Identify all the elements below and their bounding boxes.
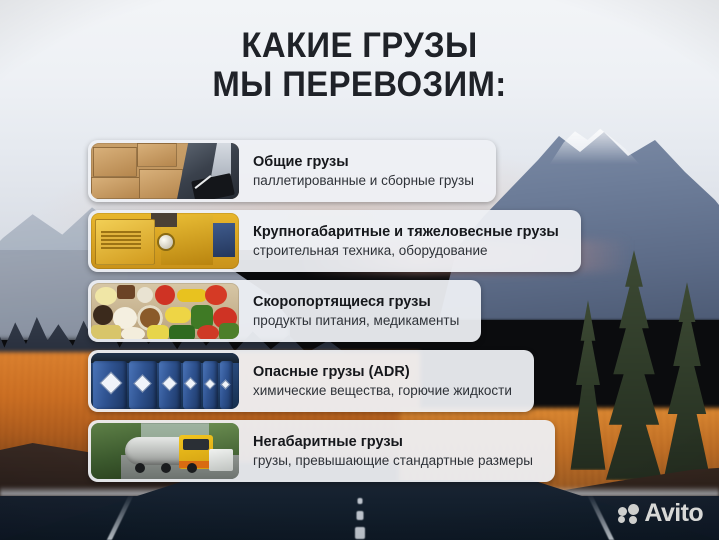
road-center-dash — [356, 511, 363, 520]
avito-watermark: Avito — [618, 501, 703, 526]
list-item-subtitle: продукты питания, медикаменты — [253, 312, 459, 330]
list-item-title: Крупногабаритные и тяжеловесные грузы — [253, 223, 559, 241]
list-item[interactable]: Общие грузы паллетированные и сборные гр… — [88, 140, 496, 202]
heavy-machinery-icon — [91, 213, 239, 269]
cargo-type-list: Общие грузы паллетированные и сборные гр… — [88, 140, 581, 482]
oversize-truck-icon — [91, 423, 239, 479]
list-item-subtitle: химические вещества, горючие жидкости — [253, 382, 512, 400]
avito-dots-icon — [618, 504, 640, 524]
list-item-subtitle: грузы, превышающие стандартные размеры — [253, 452, 533, 470]
list-item-title: Общие грузы — [253, 153, 474, 171]
page-title: КАКИЕ ГРУЗЫ МЫ ПЕРЕВОЗИМ: — [0, 26, 719, 104]
page-title-line-2: МЫ ПЕРЕВОЗИМ: — [22, 65, 698, 104]
list-item[interactable]: Скоропортящиеся грузы продукты питания, … — [88, 280, 481, 342]
fresh-food-icon — [91, 283, 239, 339]
cardboard-boxes-icon — [91, 143, 239, 199]
list-item-text: Крупногабаритные и тяжеловесные грузы ст… — [253, 223, 559, 260]
list-item-text: Негабаритные грузы грузы, превышающие ст… — [253, 433, 533, 470]
list-item-subtitle: паллетированные и сборные грузы — [253, 172, 474, 190]
list-item-title: Опасные грузы (ADR) — [253, 363, 512, 381]
list-item-subtitle: строительная техника, оборудование — [253, 242, 559, 260]
list-item-text: Скоропортящиеся грузы продукты питания, … — [253, 293, 459, 330]
road-center-dash — [355, 527, 365, 539]
list-item-text: Опасные грузы (ADR) химические вещества,… — [253, 363, 512, 400]
list-item-text: Общие грузы паллетированные и сборные гр… — [253, 153, 474, 190]
page-title-line-1: КАКИЕ ГРУЗЫ — [22, 26, 698, 65]
avito-brand-label: Avito — [644, 501, 703, 526]
list-item-title: Скоропортящиеся грузы — [253, 293, 459, 311]
list-item[interactable]: Негабаритные грузы грузы, превышающие ст… — [88, 420, 555, 482]
list-item[interactable]: Крупногабаритные и тяжеловесные грузы ст… — [88, 210, 581, 272]
hazard-barrels-icon — [91, 353, 239, 409]
list-item-title: Негабаритные грузы — [253, 433, 533, 451]
list-item[interactable]: Опасные грузы (ADR) химические вещества,… — [88, 350, 534, 412]
road-center-dash — [357, 498, 362, 504]
